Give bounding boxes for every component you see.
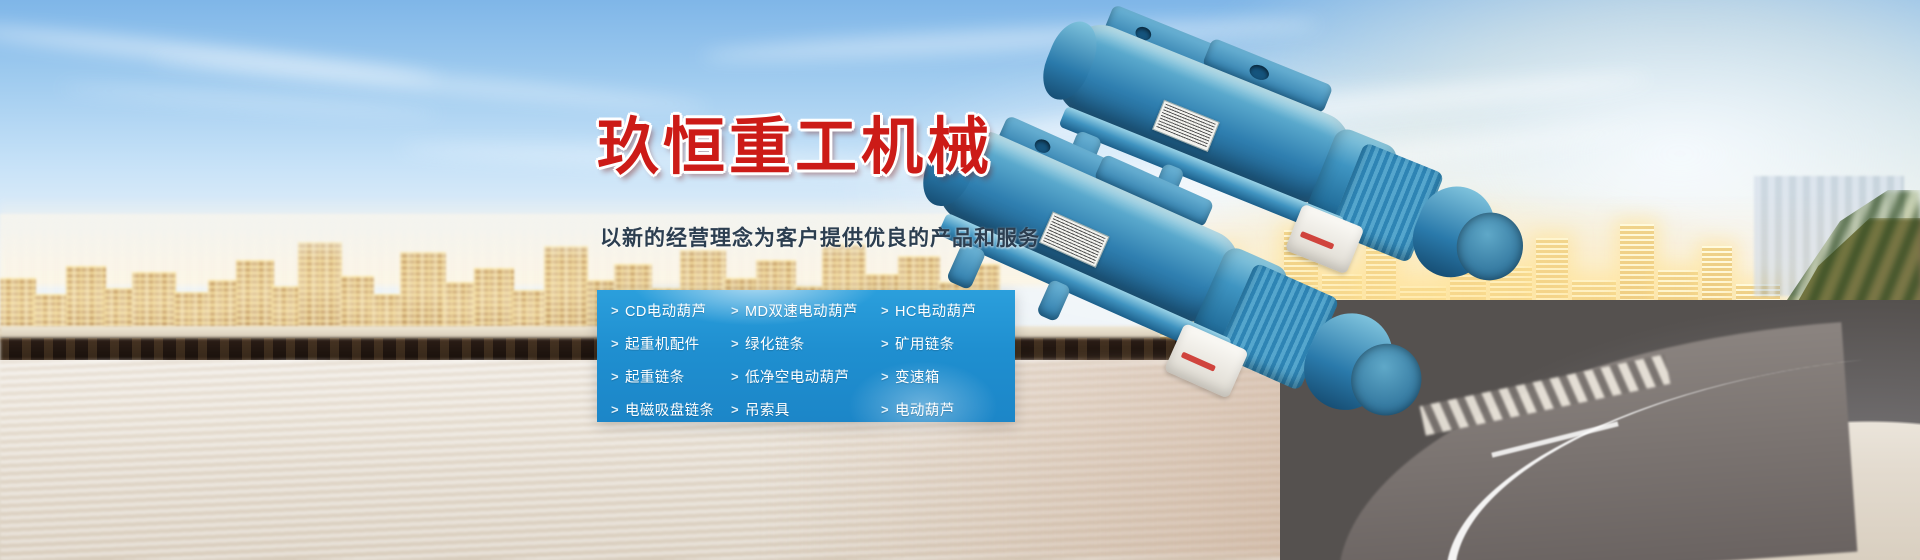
product-link[interactable]: >电动葫芦 <box>881 393 1029 426</box>
product-link[interactable]: >HC电动葫芦 <box>881 294 1029 327</box>
hero-banner: 玖恒重工机械 以新的经营理念为客户提供优良的产品和服务 >CD电动葫芦>MD双速… <box>0 0 1920 560</box>
product-link[interactable]: >低净空电动葫芦 <box>731 360 881 393</box>
chevron-right-icon: > <box>881 303 889 318</box>
product-link-label: 绿化链条 <box>745 333 805 354</box>
product-link-label: 矿用链条 <box>895 333 955 354</box>
chevron-right-icon: > <box>611 369 619 384</box>
chevron-right-icon: > <box>881 369 889 384</box>
product-link[interactable]: >CD电动葫芦 <box>611 294 731 327</box>
chevron-right-icon: > <box>611 303 619 318</box>
product-link[interactable]: >起重机配件 <box>611 327 731 360</box>
chevron-right-icon: > <box>611 336 619 351</box>
page-title: 玖恒重工机械 <box>597 114 993 179</box>
page-subtitle: 以新的经营理念为客户提供优良的产品和服务 <box>600 222 1040 252</box>
product-link-label: 吊索具 <box>745 399 790 420</box>
chevron-right-icon: > <box>731 369 739 384</box>
chevron-right-icon: > <box>731 336 739 351</box>
product-link-label: HC电动葫芦 <box>895 300 976 321</box>
product-link[interactable]: >吊索具 <box>731 393 881 426</box>
chevron-right-icon: > <box>881 336 889 351</box>
product-link[interactable]: >起重链条 <box>611 360 731 393</box>
product-link-label: MD双速电动葫芦 <box>745 300 858 321</box>
product-link-label: 起重链条 <box>625 366 685 387</box>
product-list: >CD电动葫芦>MD双速电动葫芦>HC电动葫芦>起重机配件>绿化链条>矿用链条>… <box>597 290 1015 422</box>
product-link[interactable]: >电磁吸盘链条 <box>611 393 731 426</box>
product-link-label: 起重机配件 <box>625 333 700 354</box>
product-link[interactable]: >绿化链条 <box>731 327 881 360</box>
product-link-label: 变速箱 <box>895 366 940 387</box>
product-list-panel: >CD电动葫芦>MD双速电动葫芦>HC电动葫芦>起重机配件>绿化链条>矿用链条>… <box>597 290 1015 422</box>
product-link-label: 低净空电动葫芦 <box>745 366 849 387</box>
chevron-right-icon: > <box>731 402 739 417</box>
product-link-label: CD电动葫芦 <box>625 300 706 321</box>
product-link-label: 电磁吸盘链条 <box>625 399 714 420</box>
product-link[interactable]: >矿用链条 <box>881 327 1029 360</box>
chevron-right-icon: > <box>611 402 619 417</box>
product-link[interactable]: >MD双速电动葫芦 <box>731 294 881 327</box>
chevron-right-icon: > <box>881 402 889 417</box>
chevron-right-icon: > <box>731 303 739 318</box>
product-link[interactable]: >变速箱 <box>881 360 1029 393</box>
product-link-label: 电动葫芦 <box>895 399 955 420</box>
